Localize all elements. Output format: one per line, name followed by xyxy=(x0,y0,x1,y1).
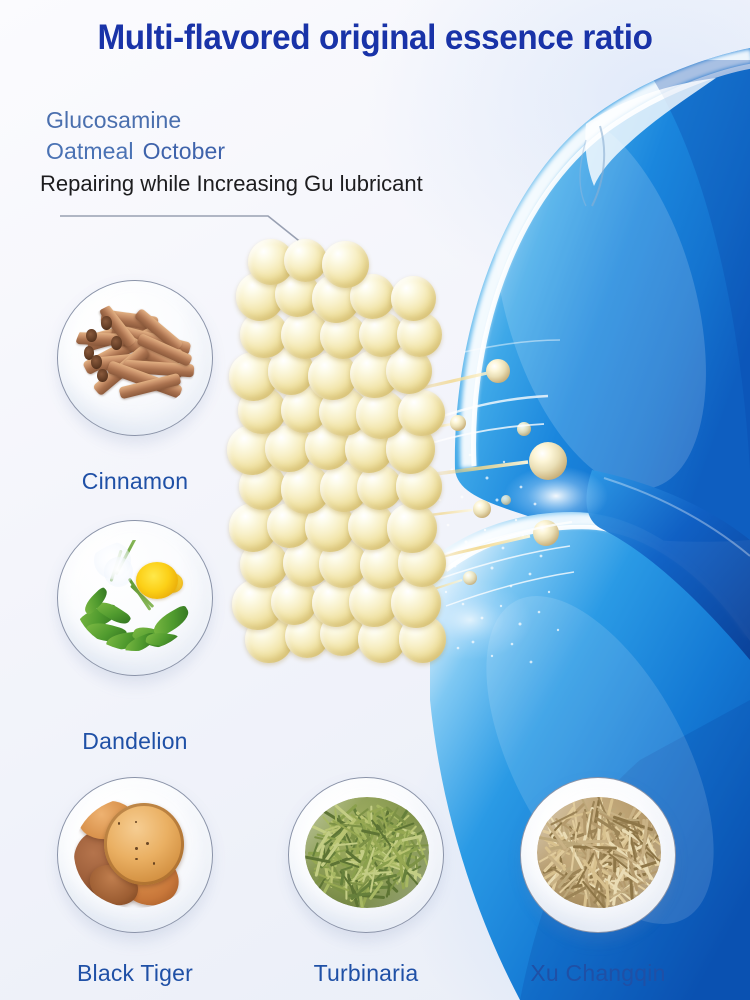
capsule-pearl xyxy=(387,503,437,553)
root-speck xyxy=(118,822,121,825)
ingredient-label: Xu Changqin xyxy=(473,960,723,987)
glass-dish xyxy=(57,280,213,436)
ingredient-photo-cinnamon xyxy=(74,300,199,411)
intro-word-oatmeal: Oatmeal xyxy=(46,138,134,164)
glass-dish xyxy=(57,520,213,676)
ingredient-photo-xuchangqin xyxy=(537,797,662,908)
intro-line-benefit: Repairing while Increasing Gu lubricant xyxy=(40,167,423,200)
turbinaria-strand xyxy=(387,877,390,896)
xu-changqin-strand xyxy=(583,812,586,836)
turbinaria-strand xyxy=(345,871,347,900)
ingredient-label: Turbinaria xyxy=(241,960,491,987)
intro-text-block: Glucosamine OatmealOctober Repairing whi… xyxy=(46,105,423,200)
ingredient-photo-turbinaria xyxy=(305,797,430,908)
dandelion-flower xyxy=(136,562,178,599)
poster-root: Multi-flavored original essence ratio Gl… xyxy=(0,0,750,1000)
cinnamon-stick-end xyxy=(111,336,122,349)
capsule-pearl xyxy=(284,239,328,283)
intro-word-october: October xyxy=(143,138,226,164)
ingredient-circle-dandelion[interactable]: Dandelion xyxy=(57,520,213,676)
golden-capsule-cluster xyxy=(240,240,460,670)
cinnamon-stick-end xyxy=(101,316,112,329)
thigh-shape xyxy=(455,48,750,542)
page-title: Multi-flavored original essence ratio xyxy=(19,18,732,58)
ingredient-label: Dandelion xyxy=(10,728,260,755)
root-speck xyxy=(146,842,149,845)
cinnamon-stick-end xyxy=(86,329,97,342)
intro-line-glucosamine: Glucosamine xyxy=(46,105,423,136)
cinnamon-stick-end xyxy=(91,355,102,368)
ingredient-label: Cinnamon xyxy=(10,468,260,495)
root-speck xyxy=(153,862,156,865)
root-speck xyxy=(135,858,138,860)
ingredient-circle-turbinaria[interactable]: Turbinaria xyxy=(288,777,444,933)
ingredient-label: Black Tiger xyxy=(10,960,260,987)
dandelion-leaf xyxy=(145,631,179,649)
ingredient-photo-blacktiger xyxy=(74,797,199,908)
ingredient-circle-blacktiger[interactable]: Black Tiger xyxy=(57,777,213,933)
dandelion-seed-head xyxy=(104,557,134,587)
cinnamon-stick-end xyxy=(97,369,108,382)
capsule-pearl xyxy=(398,390,444,436)
glass-dish xyxy=(520,777,676,933)
root-speck xyxy=(135,847,138,850)
glass-dish xyxy=(288,777,444,933)
glass-dish xyxy=(57,777,213,933)
capsule-pearl xyxy=(391,276,436,321)
ingredient-circle-xuchangqin[interactable]: Xu Changqin xyxy=(520,777,676,933)
intro-line-oatmeal-october: OatmealOctober xyxy=(46,136,423,167)
ingredient-photo-dandelion xyxy=(74,540,199,651)
ingredient-circle-cinnamon[interactable]: Cinnamon xyxy=(57,280,213,436)
